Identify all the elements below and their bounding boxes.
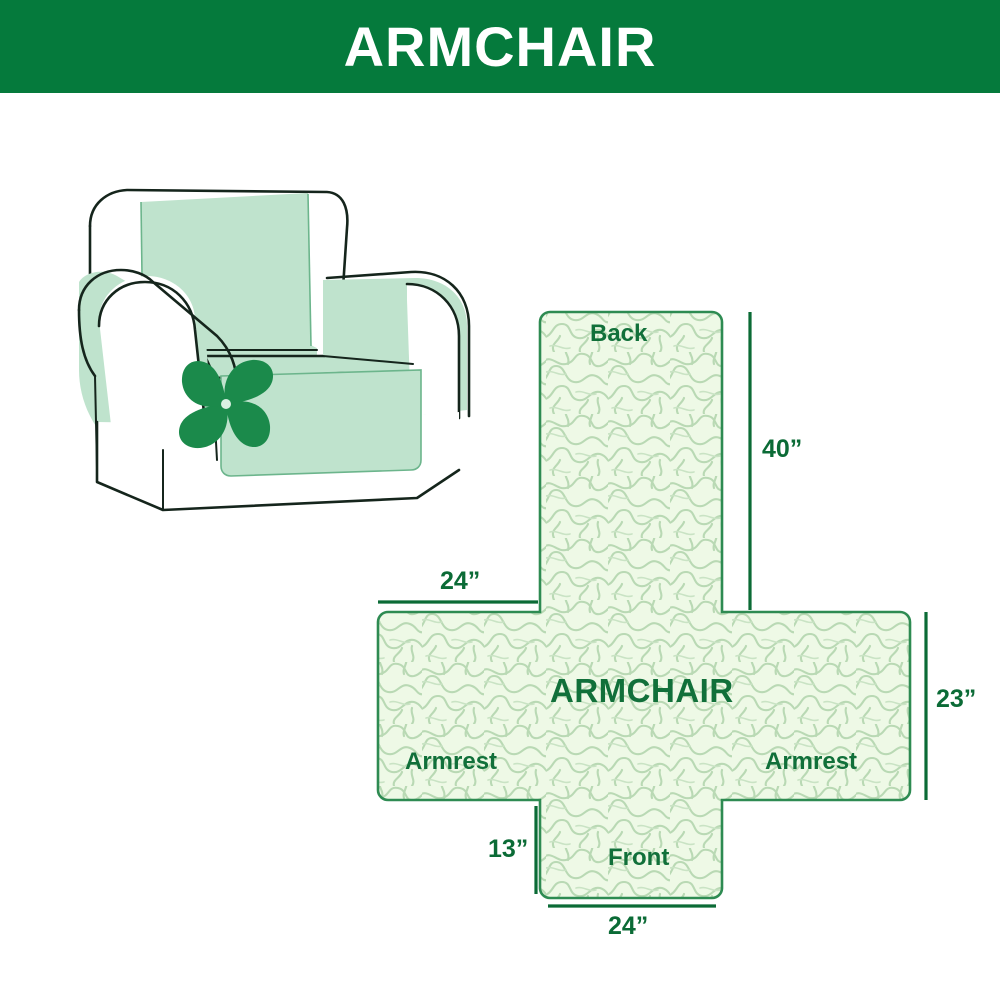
panel-label-armrest-right: Armrest (765, 748, 857, 776)
dimension-label-front-width: 24” (608, 912, 648, 941)
header-banner: ARMCHAIR (0, 0, 1000, 93)
product-dimension-infographic: ARMCHAIR .ln { fill:none; stroke:#15251c… (0, 0, 1000, 1000)
dimension-label-body-height: 23” (936, 685, 976, 714)
dimension-label-front-height: 13” (488, 835, 528, 864)
panel-label-center: ARMCHAIR (550, 672, 734, 710)
panel-label-back: Back (590, 320, 647, 348)
dimension-label-back-width: 24” (440, 567, 480, 596)
page-title: ARMCHAIR (344, 19, 657, 75)
panel-label-armrest-left: Armrest (405, 748, 497, 776)
flat-layout-diagram: Back ARMCHAIR Armrest Armrest Front 40” … (360, 290, 960, 950)
panel-label-front: Front (608, 844, 669, 872)
dimension-label-back-height: 40” (762, 435, 802, 464)
